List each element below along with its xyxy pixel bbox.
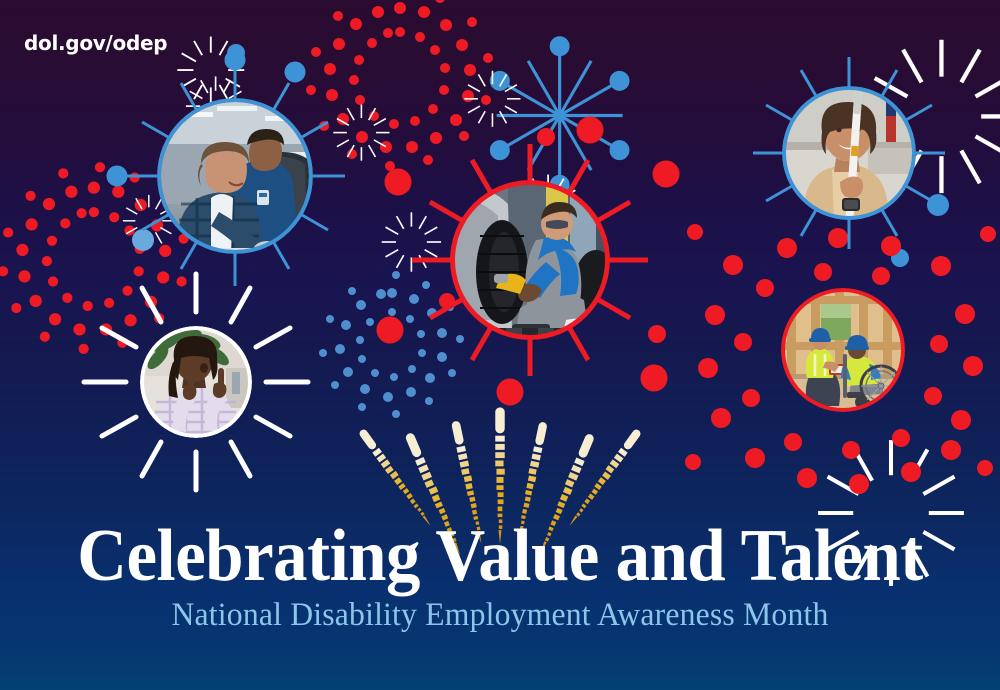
page-subtitle: National Disability Employment Awareness… xyxy=(20,596,980,634)
firework-blue-rays-top xyxy=(491,38,628,193)
poster-canvas: dol.gov/odep xyxy=(0,0,1000,690)
photo-woman-signing xyxy=(140,326,252,438)
firework-blue-dots-center xyxy=(319,271,464,418)
photo-ring-blue xyxy=(782,86,916,220)
photo-ring-red xyxy=(450,180,610,340)
photo-office-colleagues xyxy=(157,98,313,254)
firework-white-burst-small-f xyxy=(382,212,441,271)
site-url-label: dol.gov/odep xyxy=(24,31,167,55)
photo-ring-blue xyxy=(157,98,313,254)
photo-construction-wheelchair xyxy=(781,288,905,412)
firework-white-burst-small-a xyxy=(177,37,244,104)
firework-white-burst-small-c xyxy=(333,105,389,161)
photo-ring-white xyxy=(140,326,252,438)
firework-white-burst-small-d xyxy=(464,71,520,127)
photo-woman-with-white-cane xyxy=(782,86,916,220)
photo-ring-red xyxy=(781,288,905,412)
photo-auto-mechanic xyxy=(450,180,610,340)
firework-red-dots-top xyxy=(306,0,493,171)
page-title: Celebrating Value and Talent xyxy=(35,519,965,593)
